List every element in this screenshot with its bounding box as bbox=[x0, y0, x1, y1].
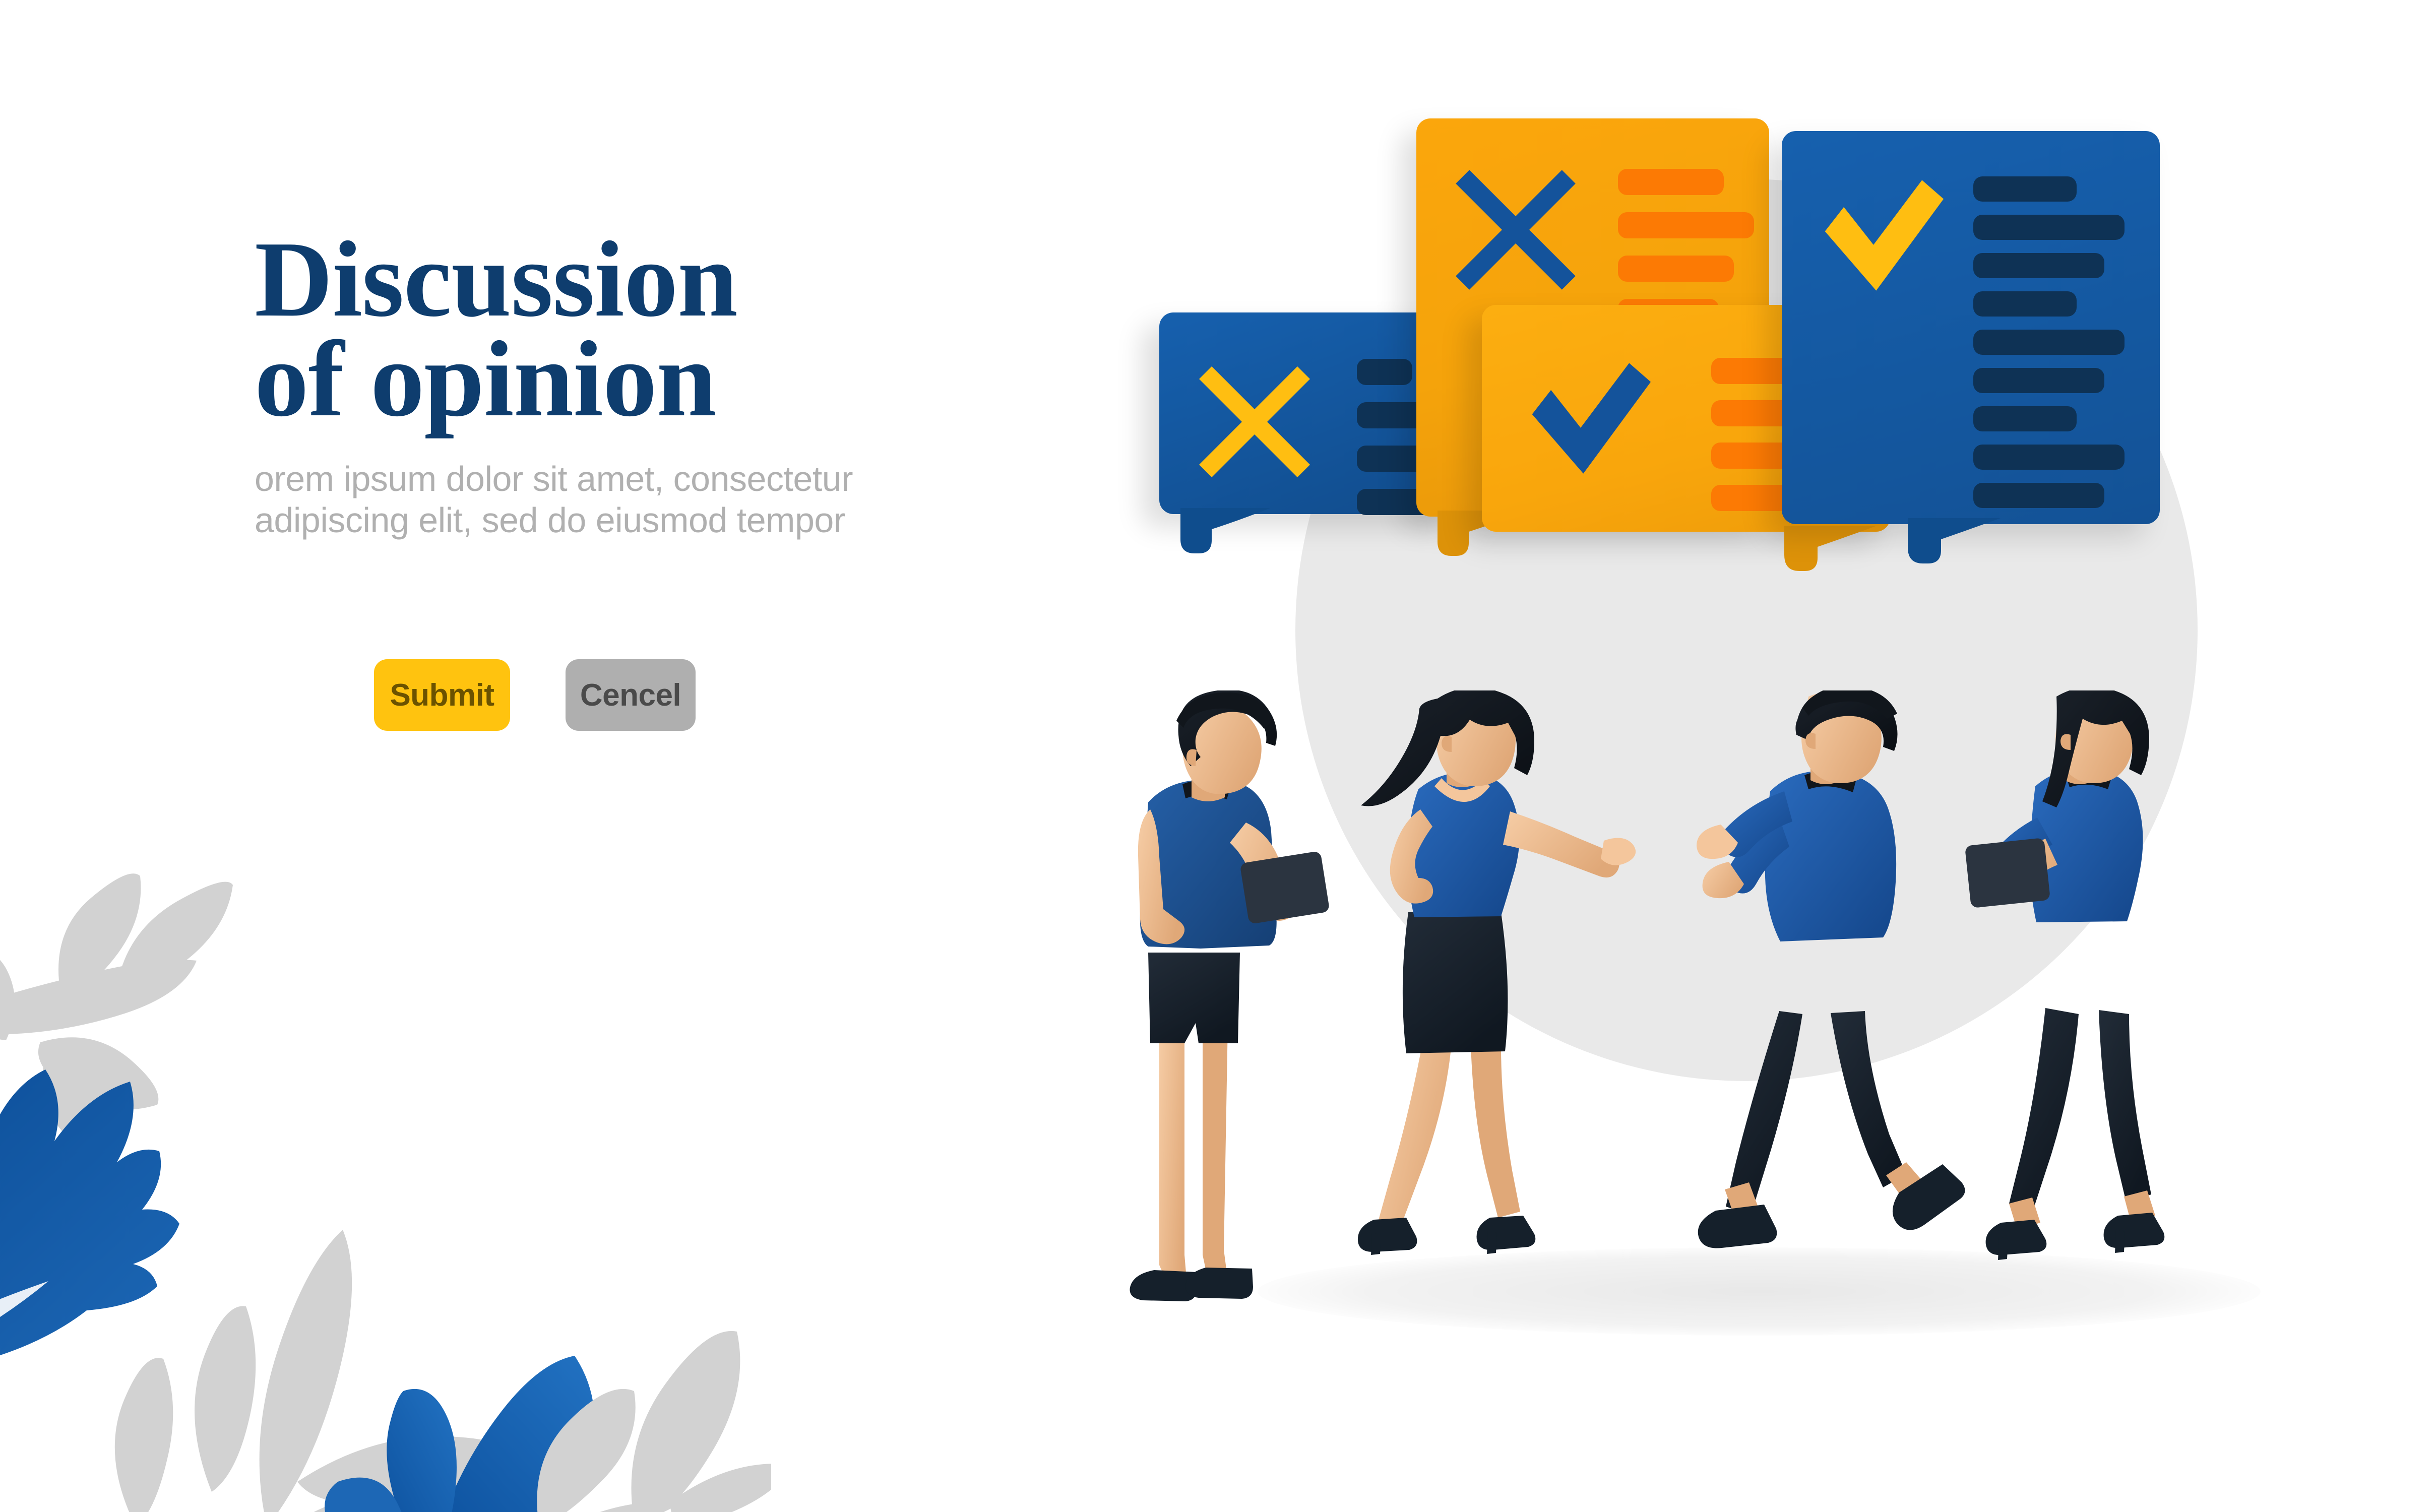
check-icon bbox=[1521, 360, 1656, 476]
check-icon bbox=[1813, 177, 1950, 293]
text-lines bbox=[1618, 169, 1754, 325]
tablet-device bbox=[1239, 851, 1330, 924]
hero-copy-block: Discussion of opinion orem ipsum dolor s… bbox=[255, 229, 1041, 541]
page-title: Discussion of opinion bbox=[255, 229, 1041, 429]
person-group bbox=[1084, 690, 2319, 1361]
text-line bbox=[1973, 253, 2104, 278]
submit-button[interactable]: Submit bbox=[374, 659, 510, 731]
tablet-device bbox=[1965, 838, 2050, 908]
illustration-page: Discussion of opinion orem ipsum dolor s… bbox=[0, 0, 2436, 1512]
text-line bbox=[1618, 256, 1734, 282]
bubble-accept-right[interactable] bbox=[1782, 131, 2160, 524]
bubble-tail bbox=[1180, 508, 1311, 553]
text-line bbox=[1973, 368, 2104, 393]
bubble-tail bbox=[1908, 518, 2039, 563]
text-line bbox=[1618, 212, 1754, 238]
decor-leaves bbox=[0, 857, 771, 1512]
text-line bbox=[1973, 483, 2104, 508]
person-man-walking bbox=[1697, 690, 1965, 1248]
text-line bbox=[1357, 359, 1412, 385]
text-line bbox=[1618, 169, 1724, 195]
person-man-standing-tablet bbox=[1130, 690, 1330, 1301]
text-line bbox=[1973, 291, 2077, 317]
illustration-area bbox=[1084, 126, 2394, 1361]
bubble-tail bbox=[1784, 526, 1915, 571]
text-line bbox=[1973, 330, 2125, 355]
person-woman-tablet bbox=[1965, 690, 2164, 1260]
text-line bbox=[1973, 215, 2125, 240]
cross-icon bbox=[1192, 359, 1318, 485]
text-lines bbox=[1973, 176, 2125, 508]
text-line bbox=[1973, 445, 2125, 470]
page-subtitle: orem ipsum dolor sit amet, consectetur a… bbox=[255, 458, 1041, 541]
text-line bbox=[1973, 406, 2077, 431]
cancel-button[interactable]: Cencel bbox=[566, 659, 696, 731]
leaf-blob-blue-dark bbox=[0, 1069, 179, 1373]
cross-icon bbox=[1448, 162, 1584, 298]
person-woman-gesturing bbox=[1358, 690, 1636, 1255]
cta-button-row: Submit Cencel bbox=[374, 659, 696, 731]
text-line bbox=[1973, 176, 2077, 202]
